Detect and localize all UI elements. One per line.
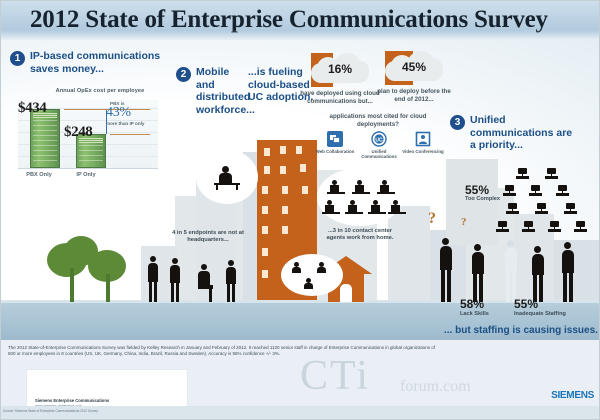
app-video-conferencing: Video Conferencing bbox=[401, 131, 445, 154]
tower-window bbox=[282, 186, 288, 194]
svg-text:UC: UC bbox=[375, 137, 383, 143]
tower-window bbox=[262, 248, 268, 256]
tower-window bbox=[264, 166, 270, 174]
section-1-label: IP-based communications saves money... bbox=[30, 50, 170, 75]
tree-trunk bbox=[70, 268, 74, 302]
axis-label-pbx: PBX Only bbox=[17, 172, 61, 178]
section-2-number: 2 bbox=[176, 67, 191, 82]
bar-value-pbx: $434 bbox=[18, 100, 46, 117]
siemens-logo: SIEMENS bbox=[551, 390, 594, 401]
skyline-building bbox=[388, 206, 430, 302]
bar-value-ip: $248 bbox=[64, 124, 92, 141]
tower-window bbox=[282, 226, 288, 234]
app-label-video-conferencing: Video Conferencing bbox=[401, 149, 445, 154]
app-unified-communications: UC Unified Communications bbox=[357, 131, 401, 160]
cloud-caption-45: plan to deploy before the end of 2012... bbox=[371, 88, 457, 104]
app-web-collaboration: Web Collaboration bbox=[313, 131, 357, 154]
staffing-percent-inadequate: 55% bbox=[514, 297, 538, 311]
axis-label-ip: IP Only bbox=[64, 172, 108, 178]
bar-texture bbox=[79, 145, 103, 165]
section-3-header: 3 Unified communications are a priority.… bbox=[450, 114, 580, 152]
person-figure bbox=[560, 242, 576, 302]
tower-window bbox=[282, 206, 288, 214]
chart-title: Annual OpEx cost per employee bbox=[30, 88, 170, 94]
person-figure bbox=[224, 260, 238, 302]
callout-line-bottom bbox=[110, 134, 150, 135]
annotation-agents: ...3 in 10 contact center agents work fr… bbox=[318, 228, 402, 243]
cloud-percent-16: 16% bbox=[311, 62, 369, 76]
tower-window bbox=[262, 270, 268, 278]
app-label-unified-communications: Unified Communications bbox=[357, 149, 401, 160]
tree-trunk bbox=[106, 274, 110, 302]
desk-worker-figure bbox=[214, 166, 240, 190]
tower-window bbox=[264, 148, 270, 156]
cloud-45-percent: 45% bbox=[385, 51, 443, 85]
callout-bottom-text: more than IP only bbox=[106, 121, 144, 126]
priority-stat-plate bbox=[446, 159, 498, 245]
person-figure bbox=[146, 256, 160, 302]
question-mark-icon: ? bbox=[428, 210, 436, 228]
person-figure bbox=[470, 244, 486, 302]
annotation-endpoints: 4 in 5 endpoints are not at headquarters… bbox=[166, 230, 250, 245]
opex-bar-chart: Annual OpEx cost per employee $434 $248 … bbox=[12, 88, 162, 183]
infographic-page: 2012 State of Enterprise Communications … bbox=[0, 0, 600, 420]
tower-window bbox=[296, 146, 302, 154]
watermark-cti: CTi bbox=[300, 352, 370, 400]
priority-percent: 55% bbox=[465, 183, 489, 197]
section-2-label: Mobile and distributed workforce... bbox=[196, 66, 242, 116]
bar-texture bbox=[33, 120, 57, 165]
header-bar: 2012 State of Enterprise Communications … bbox=[0, 0, 600, 41]
tower-window bbox=[300, 164, 306, 172]
tower-window bbox=[302, 186, 308, 194]
section-3-label: Unified communications are a priority... bbox=[470, 114, 580, 152]
section-3-number: 3 bbox=[450, 115, 465, 130]
closing-statement: ... but staffing is causing issues. bbox=[444, 325, 598, 336]
tower-window bbox=[262, 206, 268, 214]
tower-window bbox=[262, 226, 268, 234]
house-door-icon bbox=[340, 284, 352, 302]
cloud-16-percent: 16% bbox=[311, 53, 369, 87]
footer-note: The 2012 State-of-Enterprise Communicati… bbox=[8, 345, 438, 358]
bar-pbx-only bbox=[30, 109, 60, 168]
staffing-label-inadequate: Inadequate Staffing bbox=[514, 311, 566, 317]
tower-window bbox=[280, 146, 286, 154]
footer-source: Source: Siemens State of Enterprise Comm… bbox=[3, 409, 98, 413]
tower-window bbox=[262, 186, 268, 194]
footer-brand: Siemens Enterprise Communications bbox=[35, 398, 109, 403]
staffing-percent-lack-skills: 58% bbox=[460, 297, 484, 311]
video-conferencing-icon bbox=[415, 131, 431, 147]
tower-window bbox=[280, 166, 286, 174]
section-1-number: 1 bbox=[10, 51, 25, 66]
person-figure bbox=[530, 246, 546, 302]
person-figure bbox=[438, 238, 454, 302]
watermark-forum: forum.com bbox=[400, 378, 471, 396]
person-seated-figure bbox=[196, 264, 214, 302]
apps-question: applications most cited for cloud deploy… bbox=[313, 113, 443, 129]
staffing-label-lack-skills: Lack Skills bbox=[460, 311, 489, 317]
person-figure bbox=[168, 258, 182, 302]
page-title: 2012 State of Enterprise Communications … bbox=[30, 6, 590, 34]
callout-percent: 43% bbox=[106, 105, 131, 121]
cloud-percent-45: 45% bbox=[385, 60, 443, 74]
app-label-web-collaboration: Web Collaboration bbox=[313, 149, 357, 154]
question-mark-icon: ? bbox=[461, 216, 467, 228]
speech-bubble-contact-center bbox=[317, 168, 403, 226]
priority-label: Too Complex bbox=[465, 196, 500, 202]
unified-communications-icon: UC bbox=[371, 131, 387, 147]
section-2-header: 2 Mobile and distributed workforce... bbox=[176, 66, 242, 116]
web-collaboration-icon bbox=[327, 131, 343, 147]
section-1-header: 1 IP-based communications saves money... bbox=[10, 50, 170, 75]
person-figure-light bbox=[503, 240, 519, 302]
